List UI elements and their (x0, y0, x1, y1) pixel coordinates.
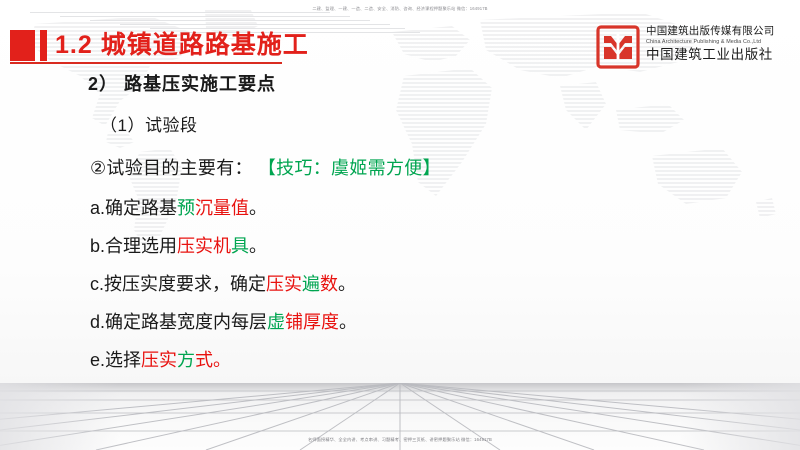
item-c-seg-0: c.按压实度要求，确定 (90, 274, 266, 294)
item-e-seg-0: e.选择 (90, 350, 141, 370)
item-c-seg-3: 数 (320, 274, 338, 294)
item-c-seg-4: 。 (338, 274, 356, 294)
item-a-seg-0: a.确定路基 (90, 198, 177, 218)
item-d-seg-1: 虚 (267, 312, 285, 332)
logo-company-name-cn: 中国建筑出版传媒有限公司 (646, 25, 792, 38)
logo-press-name-cn: 中国建筑工业出版社 (646, 46, 792, 63)
content-item-e: e.选择压实方式。 (90, 346, 231, 372)
item-e-seg-3: 式。 (195, 350, 231, 370)
item-a-seg-3: 。 (249, 198, 267, 218)
red-bar-icon (40, 30, 47, 61)
content-item-d: d.确定路基宽度内每层虚铺厚度。 (90, 308, 357, 334)
intro-mnemonic: 【技巧：虞姬需方便】 (267, 158, 441, 178)
content-subheading: （1）试验段 (100, 111, 197, 136)
item-c-seg-2: 遍 (302, 274, 320, 294)
content-item-a: a.确定路基预沉量值。 (90, 194, 267, 220)
item-d-seg-0: d.确定路基宽度内每层 (90, 312, 267, 332)
watermark-top: 二建、监理、一建、一造、二造、安全、消防、咨询、经济课程押题聚乐站 微信：164… (0, 6, 800, 12)
item-b-seg-1: 压实机 (177, 236, 231, 256)
publisher-logo-icon (596, 25, 640, 69)
page-title: 1.2 城镇道路路基施工 (55, 26, 309, 64)
item-b-seg-0: b.合理选用 (90, 236, 177, 256)
item-d-seg-3: 。 (339, 312, 357, 332)
item-b-seg-2: 具 (231, 236, 249, 256)
slide-title-bar: 1.2 城镇道路路基施工 (0, 26, 620, 64)
content-item-b: b.合理选用压实机具。 (90, 232, 267, 258)
item-d-seg-2: 铺厚度 (285, 312, 339, 332)
intro-label: ②试验目的主要有： (90, 158, 253, 178)
content-item-c: c.按压实度要求，确定压实遍数。 (90, 270, 356, 296)
content-intro-line: ②试验目的主要有：【技巧：虞姬需方便】 (90, 154, 441, 180)
item-a-seg-1: 预 (177, 198, 195, 218)
slide-canvas: 二建、监理、一建、一造、二造、安全、消防、咨询、经济课程押题聚乐站 微信：164… (0, 0, 800, 450)
item-e-seg-1: 压实 (141, 350, 177, 370)
title-underline (10, 62, 282, 64)
item-b-seg-3: 。 (249, 236, 267, 256)
item-c-seg-1: 压实 (266, 274, 302, 294)
logo-company-name-en: China Architecture Publishing & Media Co… (646, 38, 792, 46)
publisher-logo: 中国建筑出版传媒有限公司 China Architecture Publishi… (596, 25, 792, 69)
item-e-seg-2: 方 (177, 350, 195, 370)
watermark-bottom: 名师面授精华、全全内讲、考点串讲、习题精考、密押三页纸、讲密押题聚乐站 微信：1… (0, 437, 800, 443)
item-a-seg-2: 沉量值 (195, 198, 249, 218)
content-heading: 2） 路基压实施工要点 (88, 70, 276, 96)
red-square-icon (10, 30, 35, 61)
